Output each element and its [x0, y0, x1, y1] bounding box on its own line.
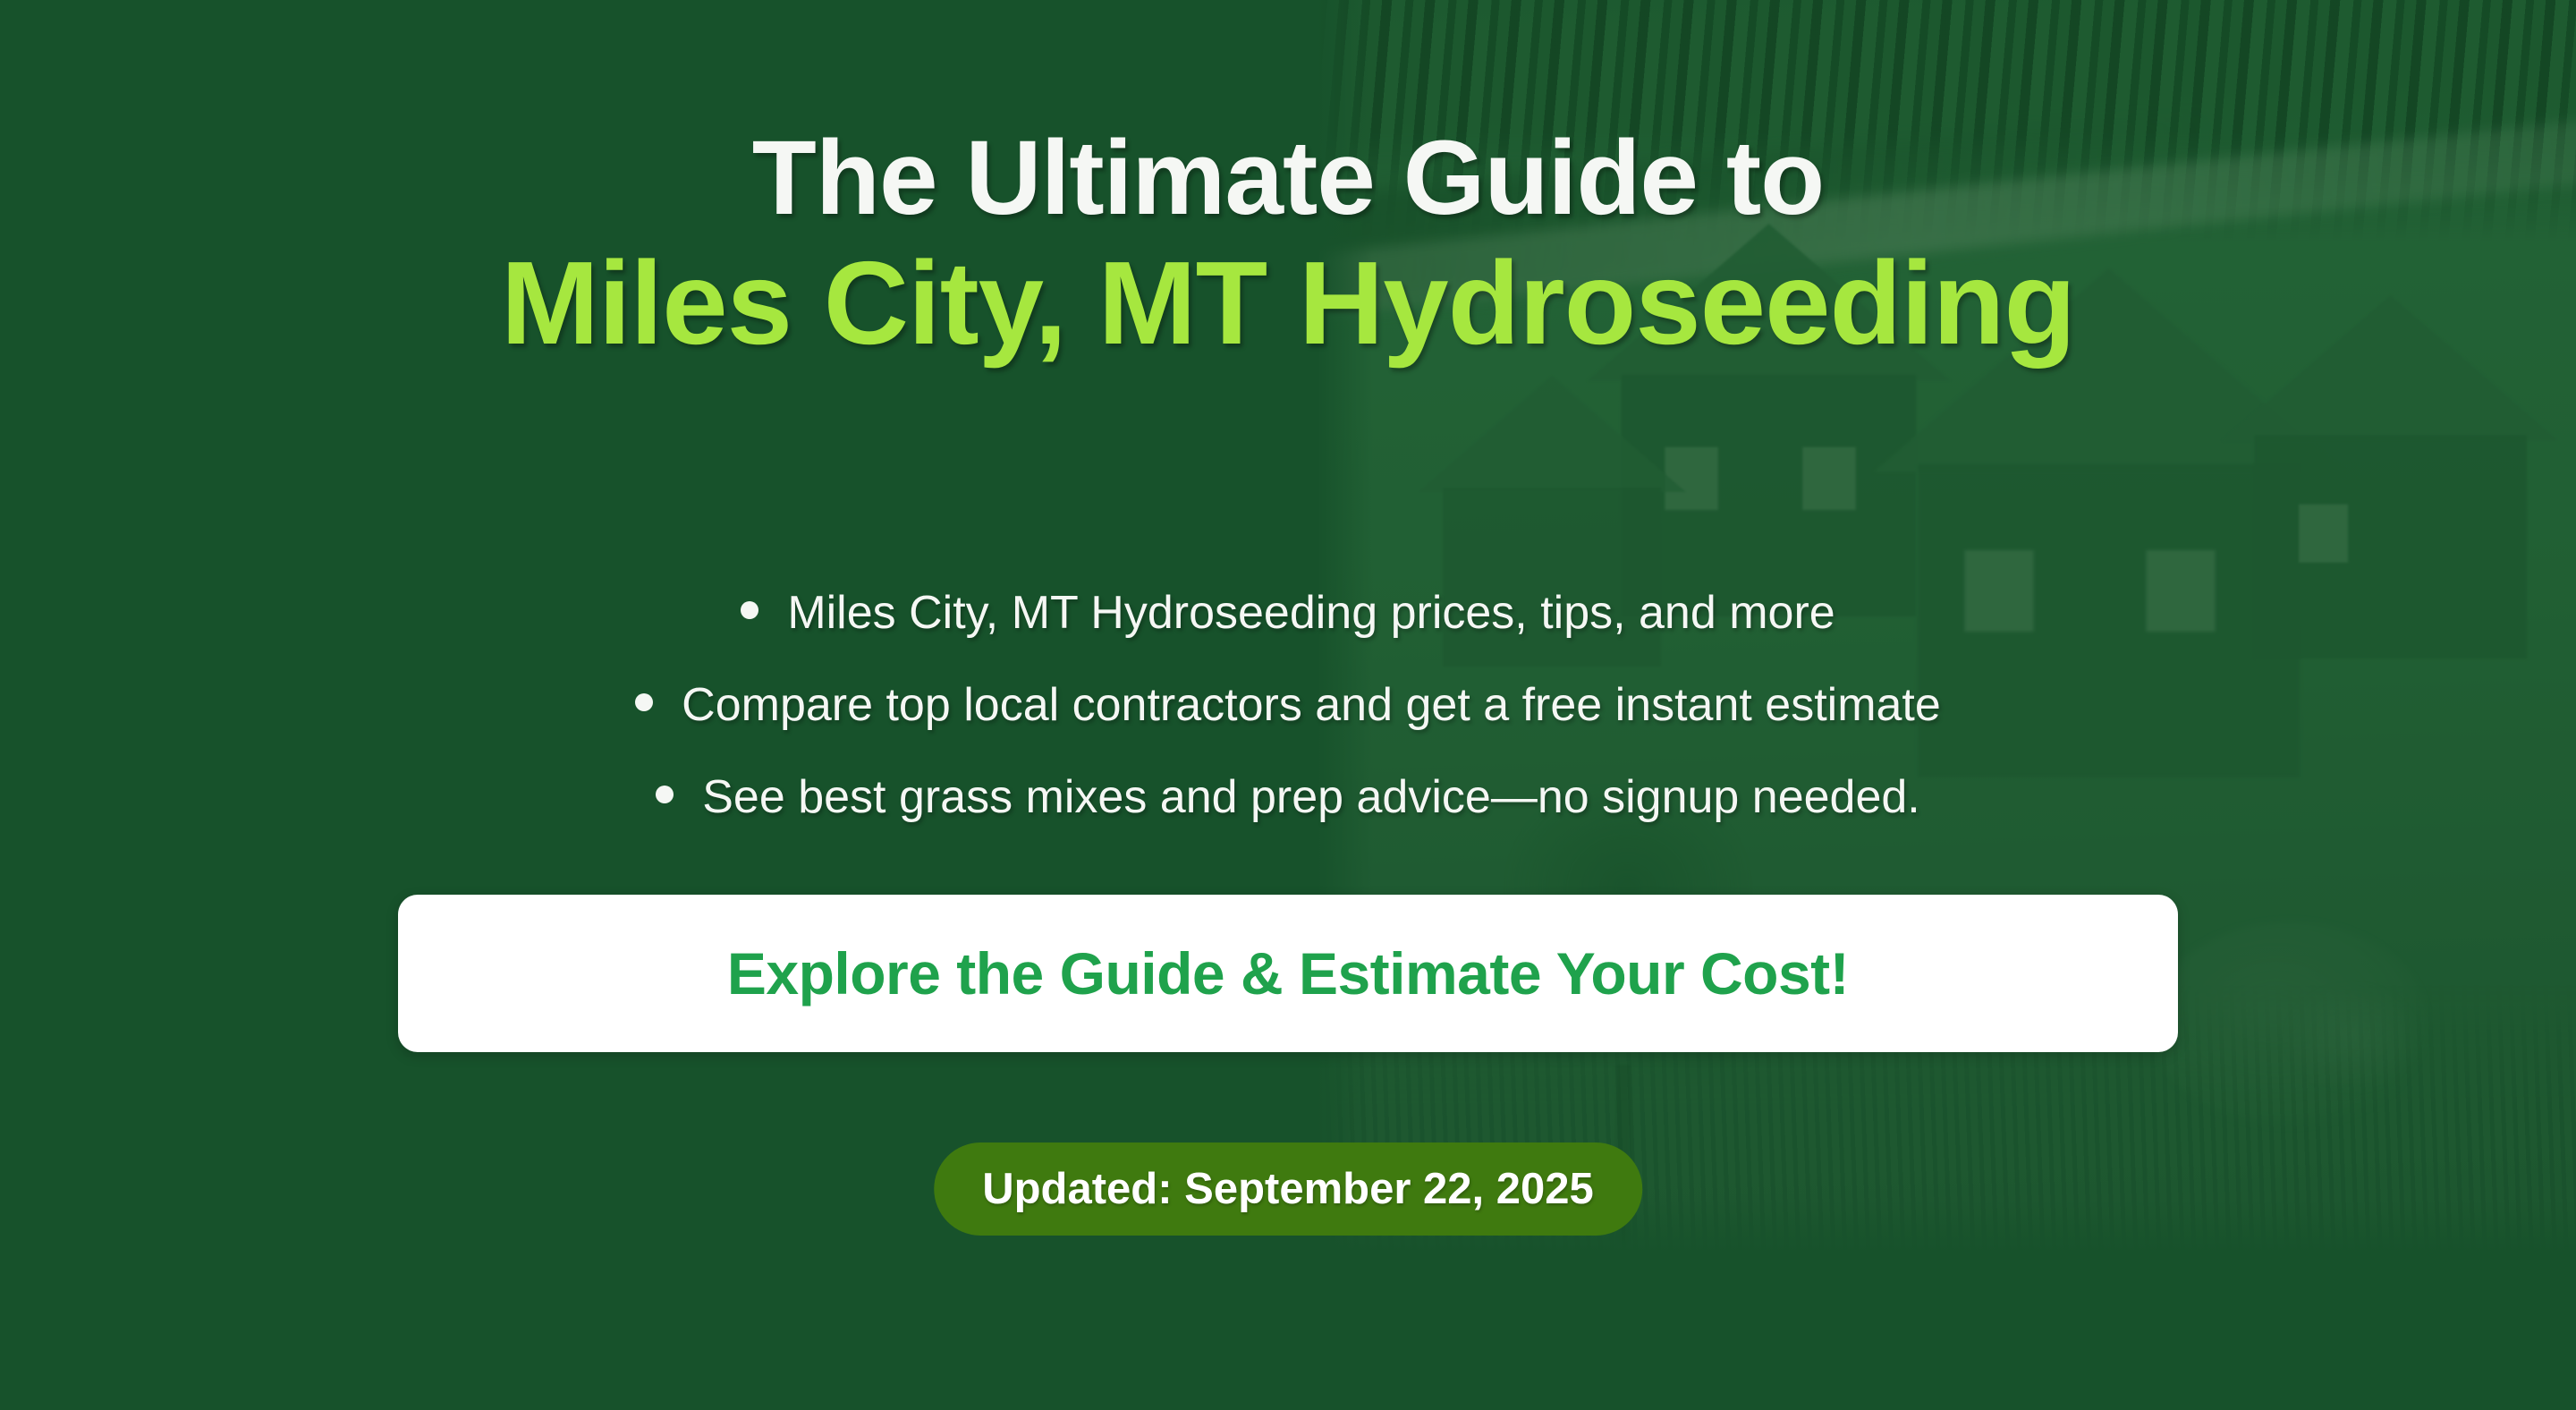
headline-line-2: Miles City, MT Hydroseeding	[0, 243, 2576, 364]
headline-line-1: The Ultimate Guide to	[0, 124, 2576, 232]
bullet-label: See best grass mixes and prep advice—no …	[702, 770, 1920, 824]
bullet-label: Miles City, MT Hydroseeding prices, tips…	[787, 586, 1835, 640]
bullet-dot-icon	[741, 601, 758, 619]
list-item: Compare top local contractors and get a …	[0, 678, 2576, 770]
updated-date-label: Updated: September 22, 2025	[982, 1164, 1594, 1214]
feature-bullet-list: Miles City, MT Hydroseeding prices, tips…	[0, 586, 2576, 862]
cta-button-label: Explore the Guide & Estimate Your Cost!	[727, 939, 1849, 1007]
explore-guide-cta-button[interactable]: Explore the Guide & Estimate Your Cost!	[398, 895, 2178, 1052]
banner-content: The Ultimate Guide to Miles City, MT Hyd…	[0, 0, 2576, 1410]
bullet-dot-icon	[635, 693, 653, 711]
list-item: See best grass mixes and prep advice—no …	[0, 770, 2576, 862]
list-item: Miles City, MT Hydroseeding prices, tips…	[0, 586, 2576, 678]
bullet-label: Compare top local contractors and get a …	[682, 678, 1941, 732]
bullet-dot-icon	[656, 786, 674, 803]
page-title: The Ultimate Guide to Miles City, MT Hyd…	[0, 124, 2576, 363]
hero-banner: The Ultimate Guide to Miles City, MT Hyd…	[0, 0, 2576, 1410]
updated-date-badge: Updated: September 22, 2025	[934, 1142, 1642, 1236]
